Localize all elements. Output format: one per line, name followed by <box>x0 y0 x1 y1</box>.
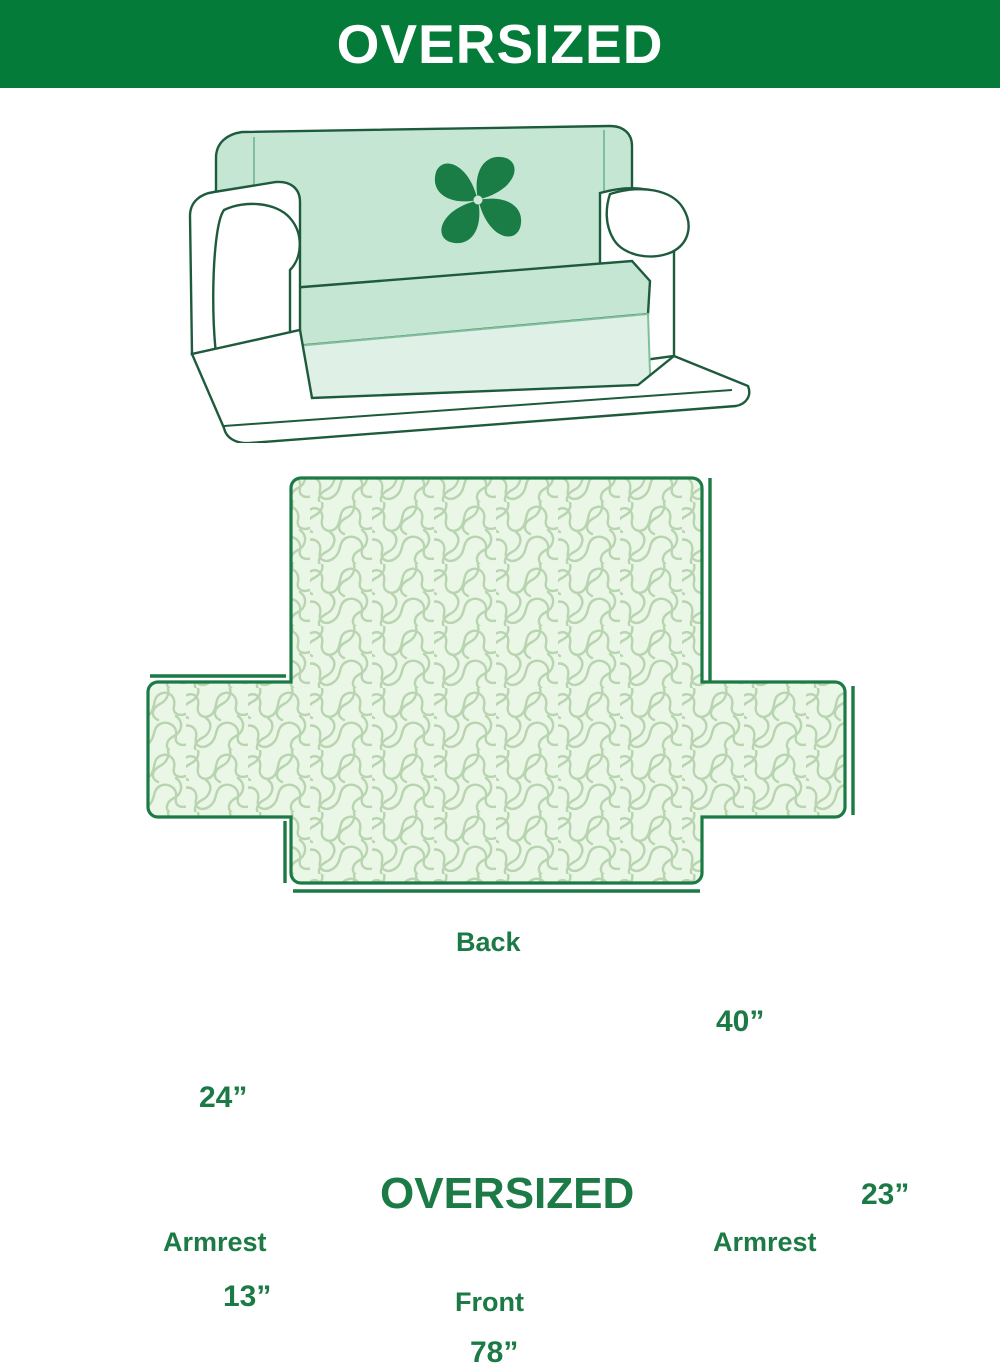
sofa-arm-right-roll <box>607 189 689 256</box>
page-title: OVERSIZED <box>337 17 664 72</box>
center-size-label: OVERSIZED <box>380 1172 634 1216</box>
section-label-back: Back <box>456 929 521 956</box>
measure-label-armrest-height: 23” <box>861 1180 909 1210</box>
section-label-front: Front <box>455 1289 524 1316</box>
header-banner: OVERSIZED <box>0 0 1000 88</box>
measure-label-front-skirt-height: 13” <box>223 1282 271 1312</box>
sofa-illustration <box>180 118 830 443</box>
measure-label-armrest-width: 24” <box>199 1083 247 1113</box>
section-label-armrest-right: Armrest <box>713 1229 817 1256</box>
cover-outline-cross <box>148 478 845 883</box>
section-label-armrest-left: Armrest <box>163 1229 267 1256</box>
measure-label-back-height: 40” <box>716 1007 764 1037</box>
dimension-diagram: Back Front Armrest Armrest OVERSIZED 40”… <box>0 440 1000 1000</box>
measure-label-total-width: 78” <box>470 1338 518 1368</box>
